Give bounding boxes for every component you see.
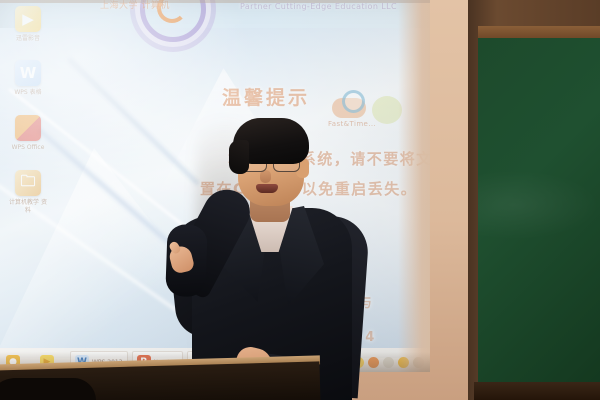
folder-icon: 🗀 (15, 170, 41, 196)
slide-title: 温馨提示 (222, 83, 310, 110)
screen-top-edge (0, 0, 430, 3)
desktop-icon-wps-office[interactable]: WPS Office (8, 115, 48, 152)
chalkboard-surface (478, 38, 600, 386)
screenshot-root: 上海大学 计算机 Partner Cutting-Edge Education … (0, 0, 600, 400)
media-player-icon: ▶ (15, 6, 41, 32)
desktop-icon-media-player[interactable]: ▶ 迅雷影音 (8, 6, 48, 43)
wps-office-icon (15, 115, 41, 141)
desktop-icon-label: WPS Office (8, 144, 48, 152)
presenter-raised-hand (168, 244, 196, 275)
chalkboard-ledge (474, 382, 600, 400)
desktop-icon-folder[interactable]: 🗀 计算机教学 资料 (8, 170, 48, 215)
logo-ring-shape (342, 90, 365, 113)
wps-spreadsheet-icon: W (15, 60, 41, 86)
slide-banner-right-text: Partner Cutting-Edge Education LLC (240, 2, 397, 11)
desktop-icon-wps-spreadsheet[interactable]: W WPS 表格 (8, 60, 48, 97)
desktop-icon-label: WPS 表格 (8, 89, 48, 97)
presenter-mouth (256, 184, 278, 193)
presenter-hair (233, 118, 309, 164)
security-shield-icon[interactable] (398, 357, 409, 368)
clock-icon[interactable] (413, 357, 424, 368)
foreground-object (0, 378, 96, 400)
presenter-forearm (165, 224, 207, 297)
desktop-icon-label: 计算机教学 资料 (8, 199, 48, 215)
desktop-icon-label: 迅雷影音 (8, 35, 48, 43)
